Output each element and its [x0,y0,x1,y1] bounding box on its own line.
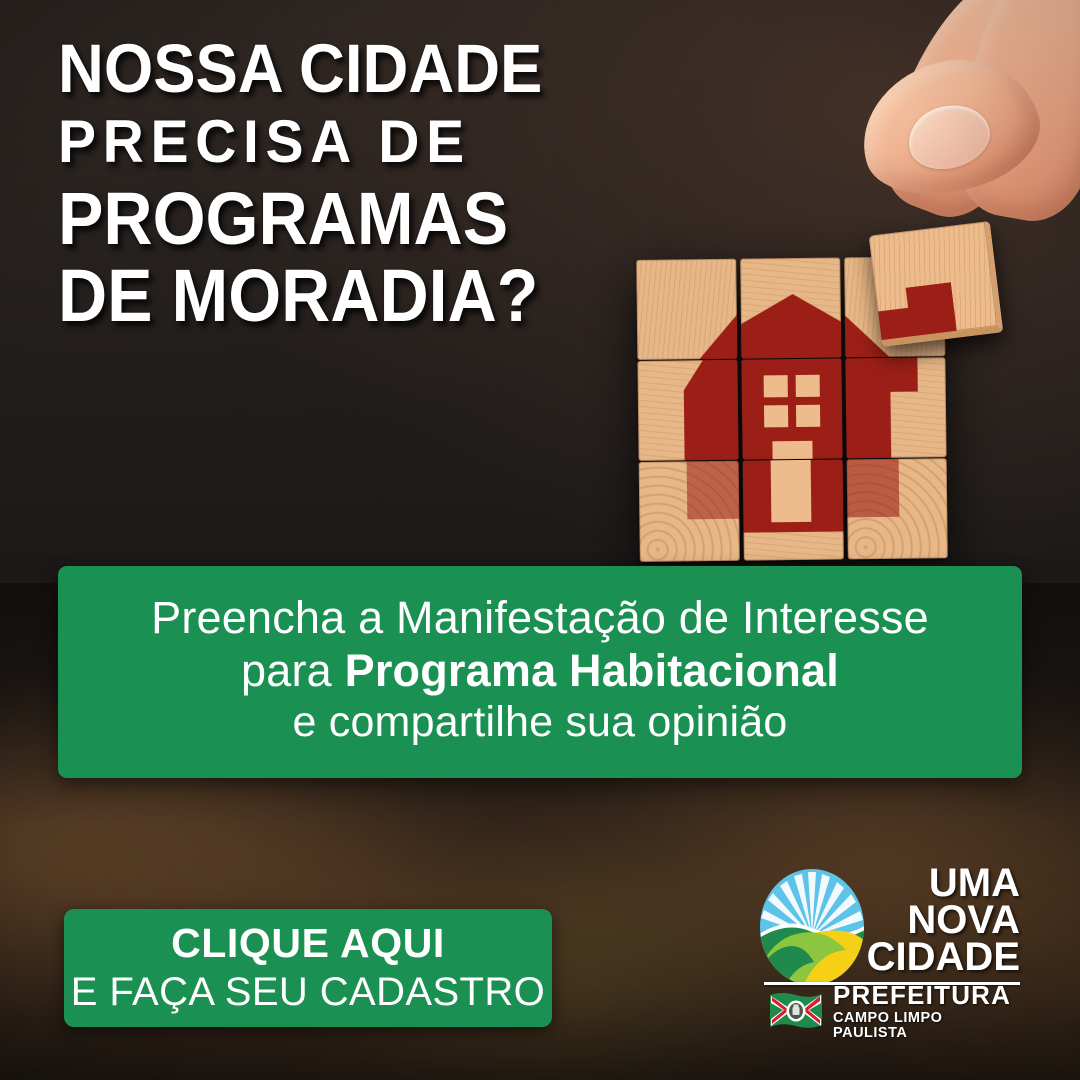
prefeitura-subtitle: CAMPO LIMPO PAULISTA [833,1011,1020,1040]
banner-line-1: Preencha a Manifestação de Interesse [151,591,929,644]
banner-line-2-prefix: para [241,645,345,696]
page-title: NOSSA CIDADE PRECISA DE PROGRAMAS DE MOR… [58,36,678,331]
headline-line-4: DE MORADIA? [58,260,628,331]
municipal-flag-icon [768,991,824,1031]
banner-line-2: para Programa Habitacional [241,644,839,697]
banner-line-3: e compartilhe sua opinião [292,697,787,748]
clique-aqui-button[interactable]: CLIQUE AQUI E FAÇA SEU CADASTRO [64,909,552,1027]
cta-primary-label: CLIQUE AQUI [171,922,445,965]
brand-line-cidade: CIDADE [852,940,1020,975]
prefeitura-text: PREFEITURA CAMPO LIMPO PAULISTA [833,982,1020,1040]
brand-line-uma: UMA [852,866,1020,901]
message-banner: Preencha a Manifestação de Interesse par… [58,566,1022,778]
headline-line-1: NOSSA CIDADE [58,36,628,102]
headline-line-2: PRECISA DE [58,113,647,171]
banner-line-2-bold: Programa Habitacional [345,645,839,696]
brand-line-nova: NOVA [852,903,1020,938]
prefeitura-lockup: PREFEITURA CAMPO LIMPO PAULISTA [768,990,1020,1032]
logo-lockup: UMA NOVA CIDADE [752,866,1020,1032]
housing-program-poster: NOSSA CIDADE PRECISA DE PROGRAMAS DE MOR… [0,0,1080,1080]
cta-secondary-label: E FAÇA SEU CADASTRO [71,970,545,1014]
headline-line-3: PROGRAMAS [58,183,628,254]
brand-wordmark: UMA NOVA CIDADE [852,866,1020,976]
prefeitura-title: PREFEITURA [833,982,1020,1008]
